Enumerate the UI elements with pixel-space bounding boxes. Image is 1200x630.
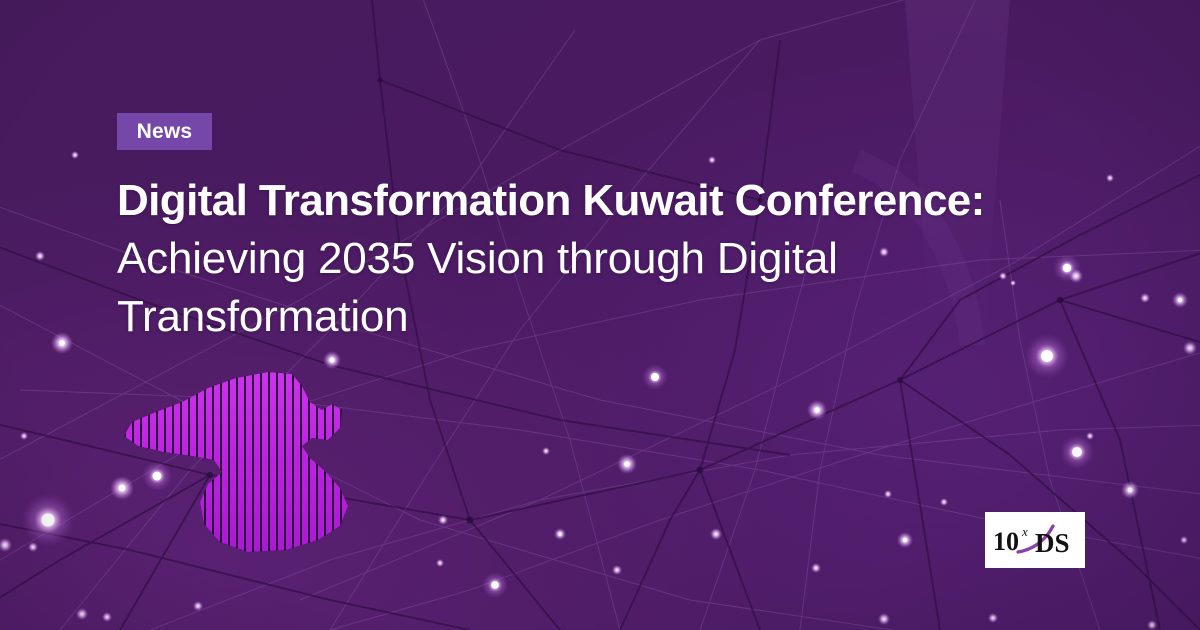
banner-card: News Digital Transformation Kuwait Confe… — [0, 0, 1200, 630]
logo-letters: DS — [1035, 528, 1070, 558]
logo-10xds[interactable]: 10 x DS — [985, 512, 1085, 568]
headline-bold: Digital Transformation Kuwait Conference… — [117, 176, 985, 225]
page-title: Digital Transformation Kuwait Conference… — [117, 172, 997, 346]
news-badge-label: News — [137, 121, 193, 142]
logo-number: 10 — [993, 527, 1019, 556]
headline-light: Achieving 2035 Vision through Digital Tr… — [117, 234, 838, 341]
logo-exponent: x — [1021, 524, 1028, 539]
logo-10xds-mark: 10 x DS — [991, 520, 1079, 560]
news-badge: News — [117, 113, 212, 150]
